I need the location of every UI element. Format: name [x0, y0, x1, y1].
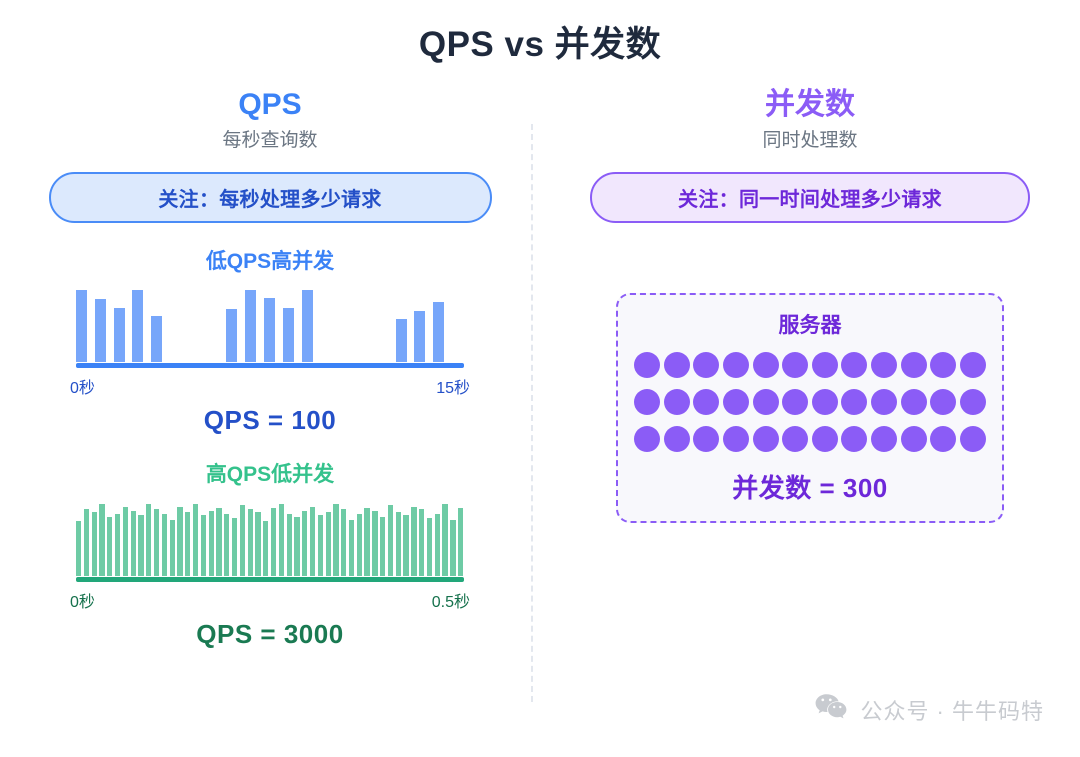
chart-bar [283, 308, 294, 363]
high-qps-plot [76, 504, 464, 576]
connection-dot [812, 426, 838, 452]
connection-dot [664, 352, 690, 378]
chart-bar [226, 309, 237, 362]
connection-dot [841, 389, 867, 415]
chart-bar [107, 517, 112, 576]
high-qps-ticks: 0秒 0.5秒 [70, 588, 470, 612]
dot-row [634, 426, 986, 452]
qps-title: QPS [0, 88, 540, 123]
concurrency-title: 并发数 [540, 88, 1080, 123]
low-qps-chart-block: 低QPS高并发 0秒 15秒 QPS = 100 [0, 249, 540, 436]
chart-bar [326, 512, 331, 575]
chart-bar [458, 508, 463, 576]
connection-dot [960, 352, 986, 378]
chart-bar [84, 509, 89, 575]
chart-bar [170, 520, 175, 576]
dot-row [634, 389, 986, 415]
qps-column-header: QPS 每秒查询数 [0, 88, 540, 152]
chart-bar [349, 520, 354, 576]
chart-bar [224, 514, 229, 576]
chart-bar [216, 508, 221, 576]
connection-dot [634, 426, 660, 452]
server-title: 服务器 [618, 313, 1002, 338]
chart-bar [99, 504, 104, 576]
concurrency-subtitle: 同时处理数 [540, 130, 1080, 153]
chart-bar [388, 505, 393, 576]
chart-bar [209, 511, 214, 576]
chart-bar [302, 290, 313, 362]
connection-dot [782, 426, 808, 452]
connection-dot [930, 426, 956, 452]
concurrency-focus-pill: 关注：同一时间处理多少请求 [590, 172, 1030, 223]
connection-dot [634, 352, 660, 378]
chart-bar [255, 512, 260, 575]
connection-dot [693, 352, 719, 378]
chart-bar [162, 514, 167, 576]
low-qps-chart-title: 低QPS高并发 [0, 249, 540, 274]
chart-bar [372, 511, 377, 576]
chart-bar [414, 311, 425, 363]
connection-dot [664, 389, 690, 415]
chart-bar [92, 512, 97, 575]
chart-bar [396, 319, 407, 362]
chart-bar [264, 298, 275, 363]
chart-bar [263, 521, 268, 576]
connection-dot [693, 426, 719, 452]
chart-bar [396, 512, 401, 575]
connection-dot [841, 352, 867, 378]
connection-dot [871, 389, 897, 415]
chart-bar [95, 299, 106, 362]
connection-dot [693, 389, 719, 415]
chart-bar [302, 511, 307, 576]
chart-bar [287, 514, 292, 576]
chart-bar [131, 511, 136, 576]
chart-bar [201, 515, 206, 575]
chart-bar [380, 517, 385, 576]
chart-bar [146, 504, 151, 576]
high-qps-bars [76, 504, 464, 576]
chart-bar [193, 504, 198, 576]
chart-bar [294, 517, 299, 576]
qps-column: QPS 每秒查询数 关注：每秒处理多少请求 低QPS高并发 0秒 15秒 QPS… [0, 88, 540, 650]
watermark: 公众号 · 牛牛码特 [815, 693, 1044, 727]
high-qps-chart-block: 高QPS低并发 0秒 0.5秒 QPS = 3000 [0, 462, 540, 649]
chart-bar [245, 290, 256, 362]
chart-bar [248, 509, 253, 575]
connection-dot [723, 352, 749, 378]
connection-dot [634, 389, 660, 415]
connection-dot [723, 426, 749, 452]
connection-dot [960, 389, 986, 415]
chart-bar [138, 515, 143, 575]
connection-dot [753, 352, 779, 378]
connection-dot [901, 352, 927, 378]
connection-dot [753, 426, 779, 452]
dot-row [634, 352, 986, 378]
chart-bar [151, 316, 162, 362]
chart-bar [115, 514, 120, 576]
low-qps-axis [76, 363, 464, 368]
chart-bar [442, 504, 447, 576]
connection-dot [960, 426, 986, 452]
chart-bar [185, 512, 190, 575]
low-qps-bars [76, 290, 464, 362]
low-qps-tick-end: 15秒 [436, 374, 470, 398]
chart-bar [114, 308, 125, 363]
chart-bar [341, 509, 346, 575]
low-qps-ticks: 0秒 15秒 [70, 374, 470, 398]
chart-bar [427, 518, 432, 576]
connection-dot [901, 426, 927, 452]
qps-focus-pill: 关注：每秒处理多少请求 [49, 172, 492, 223]
chart-bar [450, 520, 455, 576]
connection-dot [723, 389, 749, 415]
connection-dot [782, 352, 808, 378]
high-qps-tick-end: 0.5秒 [432, 588, 470, 612]
page-title: QPS vs 并发数 [0, 24, 1080, 66]
connection-dot-grid [634, 352, 986, 452]
connection-dot [871, 352, 897, 378]
chart-bar [411, 507, 416, 576]
chart-bar [232, 518, 237, 576]
high-qps-tick-start: 0秒 [70, 588, 95, 612]
connection-dot [812, 389, 838, 415]
chart-bar [154, 509, 159, 575]
chart-bar [310, 507, 315, 576]
low-qps-tick-start: 0秒 [70, 374, 95, 398]
concurrency-column-header: 并发数 同时处理数 [540, 88, 1080, 152]
chart-bar [123, 507, 128, 576]
low-qps-plot [76, 290, 464, 362]
connection-dot [901, 389, 927, 415]
connection-dot [812, 352, 838, 378]
chart-bar [177, 507, 182, 576]
comparison-columns: QPS 每秒查询数 关注：每秒处理多少请求 低QPS高并发 0秒 15秒 QPS… [0, 88, 1080, 650]
connection-dot [930, 352, 956, 378]
chart-bar [357, 514, 362, 576]
wechat-icon [815, 693, 847, 727]
connection-dot [782, 389, 808, 415]
high-qps-axis [76, 577, 464, 582]
chart-bar [318, 515, 323, 575]
chart-bar [364, 508, 369, 576]
chart-bar [403, 515, 408, 575]
qps-subtitle: 每秒查询数 [0, 130, 540, 153]
connection-dot [753, 389, 779, 415]
connection-dot [841, 426, 867, 452]
connection-dot [930, 389, 956, 415]
server-box: 服务器 并发数 = 300 [616, 293, 1004, 523]
watermark-text: 公众号 · 牛牛码特 [860, 694, 1044, 726]
low-qps-value: QPS = 100 [0, 405, 540, 436]
high-qps-value: QPS = 3000 [0, 619, 540, 650]
connection-dot [871, 426, 897, 452]
chart-bar [419, 509, 424, 575]
chart-bar [76, 290, 87, 362]
chart-bar [435, 514, 440, 576]
chart-bar [271, 508, 276, 576]
chart-bar [76, 521, 81, 576]
connection-dot [664, 426, 690, 452]
concurrency-column: 并发数 同时处理数 关注：同一时间处理多少请求 服务器 并发数 = 300 [540, 88, 1080, 650]
chart-bar [279, 504, 284, 576]
high-qps-chart-title: 高QPS低并发 [0, 462, 540, 487]
chart-bar [433, 302, 444, 362]
chart-bar [132, 290, 143, 362]
concurrency-value: 并发数 = 300 [618, 468, 1002, 505]
chart-bar [240, 505, 245, 576]
chart-bar [333, 504, 338, 576]
